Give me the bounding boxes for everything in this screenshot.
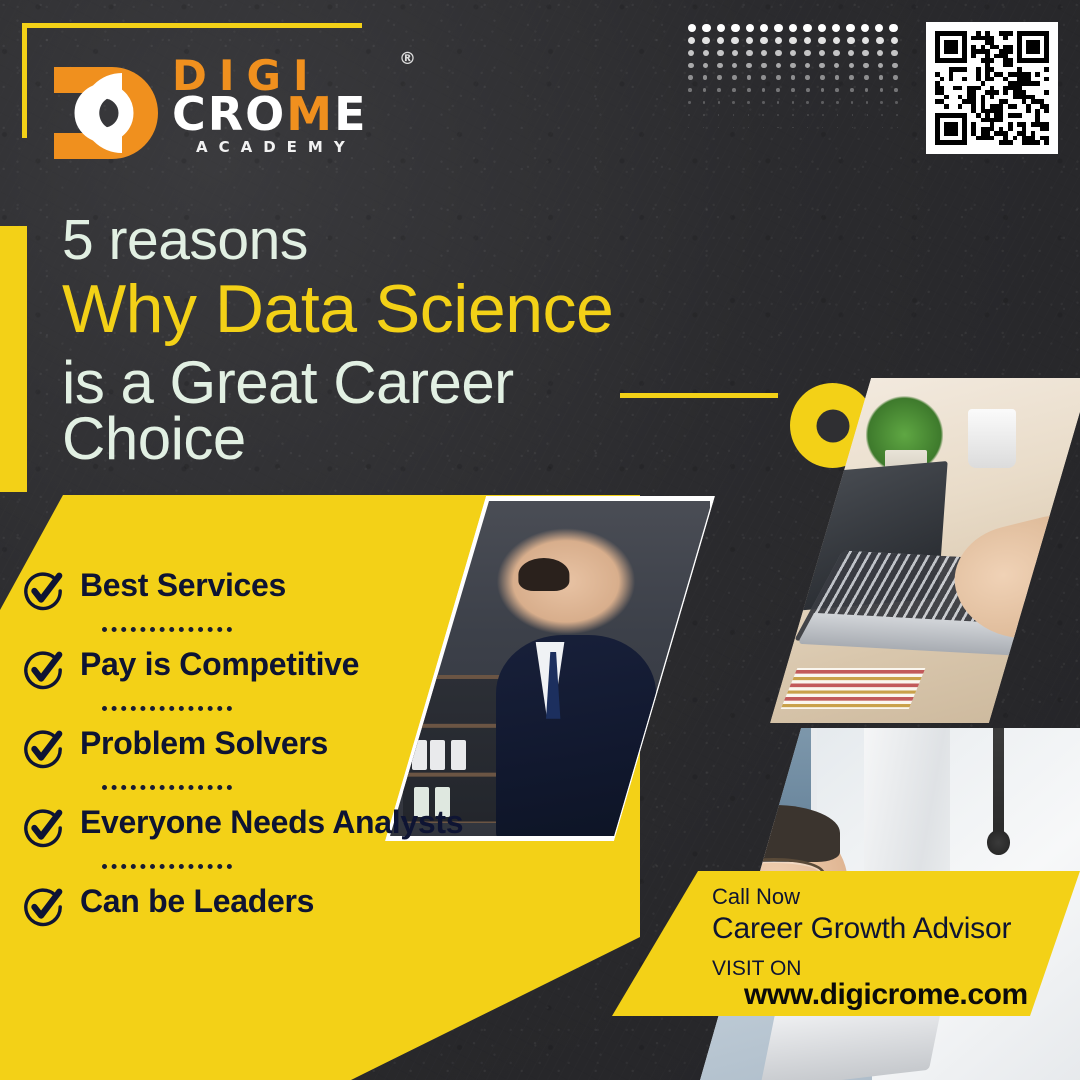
dot (821, 101, 824, 104)
dot (805, 63, 811, 69)
dot (732, 75, 737, 80)
dot (703, 75, 708, 80)
headline-accent-bar (0, 226, 27, 492)
dot (847, 37, 854, 44)
dot (849, 63, 855, 69)
dot (746, 63, 752, 69)
headline-line-2: Why Data Science (62, 275, 822, 343)
dot (833, 50, 839, 56)
registered-trademark-icon: ® (399, 51, 428, 68)
dot (746, 24, 754, 32)
dot (789, 24, 797, 32)
logo-digi-text: DIGI (172, 51, 321, 100)
dot (747, 75, 752, 80)
dot (717, 63, 723, 69)
dot (732, 101, 735, 104)
dot (746, 37, 753, 44)
dot (818, 24, 826, 32)
businessman-hair (518, 558, 569, 592)
dot (818, 37, 825, 44)
dot (761, 75, 766, 80)
benefit-item-label: Everyone Needs Analysts (80, 805, 463, 840)
benefit-item-label: Problem Solvers (80, 726, 328, 761)
dot (789, 37, 796, 44)
benefit-item: Best Services (22, 568, 522, 612)
dot (806, 88, 810, 92)
pendant-lamp-cord (993, 728, 1005, 834)
dot-grid-row (688, 47, 898, 59)
dot (776, 63, 782, 69)
dot (718, 114, 720, 116)
dot-grid-row (688, 96, 898, 108)
headline-line-1: 5 reasons (62, 212, 822, 269)
benefit-separator (102, 627, 232, 632)
circled-check-icon (22, 807, 64, 849)
dot (688, 63, 694, 69)
brand-logo[interactable]: DIGI ® CROME ACADEMY (52, 55, 382, 170)
dot (761, 63, 767, 69)
dot (882, 127, 883, 128)
dot (837, 114, 839, 116)
dot (807, 127, 808, 128)
dot (760, 24, 768, 32)
dot (732, 88, 736, 92)
dc-monogram-icon (52, 63, 187, 163)
dot (867, 127, 868, 128)
dot (861, 24, 869, 32)
dot (732, 50, 738, 56)
dot (731, 24, 739, 32)
dot (717, 88, 721, 92)
dot (776, 88, 780, 92)
circled-check-icon (22, 649, 64, 691)
dot (833, 37, 840, 44)
dot (848, 50, 854, 56)
dot (792, 114, 794, 116)
dot (880, 88, 884, 92)
dot (852, 114, 854, 116)
dot (748, 127, 749, 128)
dot (717, 37, 724, 44)
dot (846, 24, 854, 32)
dot (891, 37, 898, 44)
dot (821, 88, 825, 92)
benefits-list: Best Services Pay is Competitive Problem… (22, 568, 522, 928)
dot (803, 24, 811, 32)
cta-website-url[interactable]: www.digicrome.com (712, 978, 1062, 1013)
dot (775, 37, 782, 44)
dot (879, 75, 884, 80)
dot (777, 114, 779, 116)
headline-line-3: is a Great Career (62, 353, 822, 413)
dot (731, 37, 738, 44)
dot (834, 63, 840, 69)
dot (702, 37, 709, 44)
dot (865, 88, 869, 92)
dot (688, 50, 694, 56)
dot (819, 63, 825, 69)
dot-grid-row (688, 121, 898, 133)
dot (889, 24, 897, 32)
dot (732, 63, 738, 69)
dot (792, 101, 795, 104)
dot (852, 127, 853, 128)
circled-check-icon (22, 728, 64, 770)
dot (867, 114, 869, 116)
cta-title: Career Growth Advisor (712, 911, 1062, 947)
dot (717, 24, 725, 32)
headline-block: 5 reasons Why Data Science is a Great Ca… (62, 212, 822, 469)
benefit-separator (102, 864, 232, 869)
dot (790, 63, 796, 69)
dot-grid-pattern (688, 22, 898, 134)
dot (718, 101, 721, 104)
benefit-item: Problem Solvers (22, 726, 522, 770)
mug-prop (968, 409, 1016, 468)
qr-code-matrix (935, 31, 1049, 145)
dot (688, 75, 693, 80)
dot (747, 101, 750, 104)
dot (688, 24, 696, 32)
headline-rule-accent (620, 393, 778, 398)
dot (762, 101, 765, 104)
dot (763, 127, 764, 128)
dot (717, 50, 723, 56)
dot (850, 88, 854, 92)
qr-code[interactable] (926, 22, 1058, 154)
poster-canvas: DIGI ® CROME ACADEMY 5 reasons Why Data … (0, 0, 1080, 1080)
dot (894, 88, 898, 92)
dot (820, 75, 825, 80)
dot (776, 75, 781, 80)
dot (703, 50, 709, 56)
dot (822, 114, 824, 116)
benefit-item: Pay is Competitive (22, 647, 522, 691)
dot (761, 50, 767, 56)
logo-academy-text: ACADEMY (172, 138, 412, 156)
benefit-separator (102, 785, 232, 790)
circled-check-icon (22, 570, 64, 612)
dot (805, 75, 810, 80)
dot (777, 101, 780, 104)
dot (836, 101, 839, 104)
cta-visit-label: VISIT ON (712, 957, 1062, 980)
circled-check-icon (22, 886, 64, 928)
dot (790, 50, 796, 56)
dot (718, 127, 719, 128)
logo-wordmark: DIGI ® CROME ACADEMY (172, 55, 412, 156)
dot (891, 50, 897, 56)
dot (733, 114, 735, 116)
dot (762, 114, 764, 116)
dot (688, 37, 695, 44)
dot (804, 50, 810, 56)
dot (832, 24, 840, 32)
benefit-separator (102, 706, 232, 711)
dot (688, 127, 689, 128)
benefit-item-label: Best Services (80, 568, 286, 603)
dot (688, 88, 692, 92)
dot (762, 88, 766, 92)
dot (703, 114, 705, 116)
dot (775, 50, 781, 56)
dot (837, 127, 838, 128)
dot (897, 127, 898, 128)
dot (746, 50, 752, 56)
dot (862, 50, 868, 56)
dot-grid-row (688, 72, 898, 84)
chart-paper-prop (781, 668, 926, 709)
dot (747, 88, 751, 92)
dot (835, 75, 840, 80)
dot (880, 101, 883, 104)
headline-line-4: Choice (62, 409, 822, 469)
dot (792, 127, 793, 128)
benefit-item-label: Pay is Competitive (80, 647, 359, 682)
benefit-item: Everyone Needs Analysts (22, 805, 522, 849)
dot (804, 37, 811, 44)
dot (864, 75, 869, 80)
benefit-item: Can be Leaders (22, 884, 522, 928)
dot (863, 63, 869, 69)
dot (876, 37, 883, 44)
dot (849, 75, 854, 80)
cta-call-label: Call Now (712, 884, 1062, 909)
dot-grid-row (688, 59, 898, 71)
dot (893, 75, 898, 80)
dot (703, 101, 706, 104)
dot (875, 24, 883, 32)
dot-grid-row (688, 84, 898, 96)
dot (807, 114, 809, 116)
dot (791, 88, 795, 92)
dot (835, 88, 839, 92)
qr-module (1044, 140, 1049, 145)
dot (774, 24, 782, 32)
dot (892, 63, 898, 69)
dot (822, 127, 823, 128)
dot (702, 24, 710, 32)
dot (819, 50, 825, 56)
dot (895, 101, 898, 104)
pendant-lamp-bulb (987, 830, 1010, 855)
dot (896, 114, 898, 116)
dot-grid-row (688, 34, 898, 46)
dot (733, 127, 734, 128)
dot (703, 63, 709, 69)
dot (881, 114, 883, 116)
dot (806, 101, 809, 104)
dot (703, 127, 704, 128)
dot-grid-row (688, 109, 898, 121)
dot (688, 114, 690, 116)
dot (777, 127, 778, 128)
dot-grid-row (688, 22, 898, 34)
dot (748, 114, 750, 116)
dot (877, 50, 883, 56)
dot (688, 101, 691, 104)
dot (862, 37, 869, 44)
dot (851, 101, 854, 104)
dot (760, 37, 767, 44)
dot (717, 75, 722, 80)
dot (878, 63, 884, 69)
benefit-item-label: Can be Leaders (80, 884, 314, 919)
dot (791, 75, 796, 80)
dot (703, 88, 707, 92)
dot (866, 101, 869, 104)
